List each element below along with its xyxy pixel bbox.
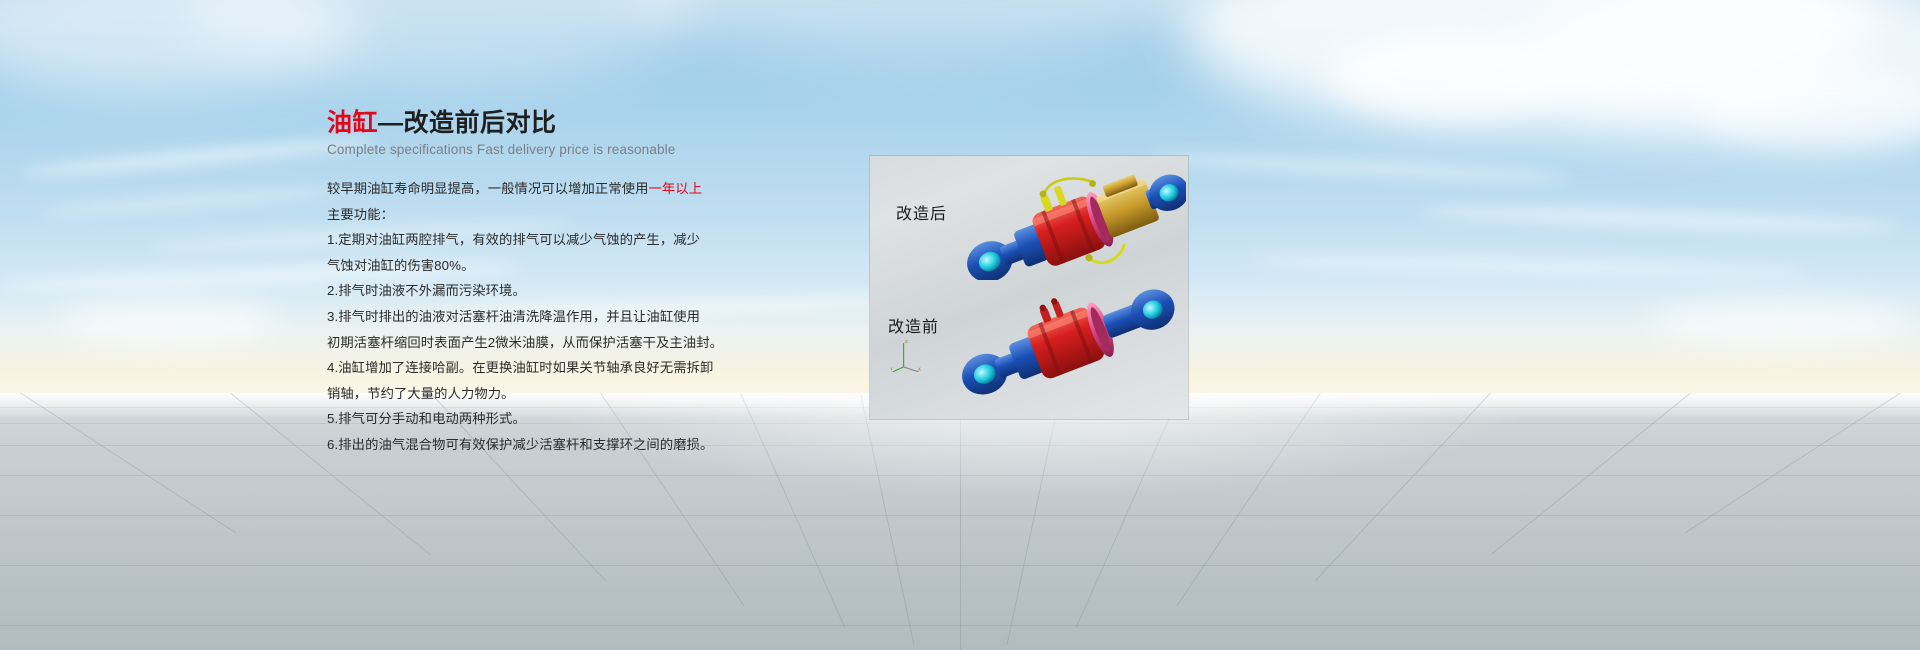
- body-text: 5.排气可分手动和电动两种形式。: [327, 411, 526, 426]
- cylinder-after-render: [956, 170, 1186, 280]
- svg-text:Y: Y: [890, 366, 893, 371]
- highlight-text: 一年以上: [649, 181, 703, 196]
- label-after: 改造后: [896, 200, 947, 224]
- label-before: 改造前: [888, 313, 939, 337]
- page-title: 油缸—改造前后对比: [327, 108, 847, 138]
- feature-line: 较早期油缸寿命明显提高，一般情况可以增加正常使用一年以上: [327, 176, 847, 202]
- comparison-image-panel: 改造后 改造前 Z X Y: [870, 156, 1188, 419]
- body-text: 销轴，节约了大量的人力物力。: [327, 386, 515, 401]
- feature-line: 气蚀对油缸的伤害80%。: [327, 253, 847, 279]
- page-subtitle: Complete specifications Fast delivery pr…: [327, 142, 847, 157]
- feature-line: 销轴，节约了大量的人力物力。: [327, 381, 847, 407]
- body-text: 3.排气时排出的油液对活塞杆油清洗降温作用，并且让油缸使用: [327, 309, 700, 324]
- title-rest: —改造前后对比: [378, 109, 557, 137]
- body-text: 较早期油缸寿命明显提高，一般情况可以增加正常使用: [327, 181, 649, 196]
- body-text: 6.排出的油气混合物可有效保护减少活塞杆和支撑环之间的磨损。: [327, 437, 713, 452]
- feature-list: 较早期油缸寿命明显提高，一般情况可以增加正常使用一年以上主要功能：1.定期对油缸…: [327, 176, 847, 458]
- svg-text:Z: Z: [905, 339, 908, 344]
- feature-line: 3.排气时排出的油液对活塞杆油清洗降温作用，并且让油缸使用: [327, 304, 847, 330]
- pavement-background: [0, 393, 1920, 650]
- body-text: 1.定期对油缸两腔排气，有效的排气可以减少气蚀的产生，减少: [327, 232, 700, 247]
- feature-line: 4.油缸增加了连接哈副。在更换油缸时如果关节轴承良好无需拆卸: [327, 355, 847, 381]
- body-text: 初期活塞杆缩回时表面产生2微米油膜，从而保护活塞干及主油封。: [327, 335, 723, 350]
- feature-line: 初期活塞杆缩回时表面产生2微米油膜，从而保护活塞干及主油封。: [327, 330, 847, 356]
- body-text: 2.排气时油液不外漏而污染环境。: [327, 283, 526, 298]
- feature-line: 2.排气时油液不外漏而污染环境。: [327, 278, 847, 304]
- feature-line: 5.排气可分手动和电动两种形式。: [327, 406, 847, 432]
- axis-triad-icon: Z X Y: [890, 338, 924, 372]
- feature-line: 主要功能：: [327, 202, 847, 228]
- copy-block: 油缸—改造前后对比 Complete specifications Fast d…: [327, 108, 847, 458]
- svg-text:X: X: [918, 366, 921, 371]
- feature-line: 6.排出的油气混合物可有效保护减少活塞杆和支撑环之间的磨损。: [327, 432, 847, 458]
- body-text: 4.油缸增加了连接哈副。在更换油缸时如果关节轴承良好无需拆卸: [327, 360, 713, 375]
- body-text: 气蚀对油缸的伤害80%。: [327, 258, 475, 273]
- title-highlight: 油缸: [327, 109, 378, 137]
- banner-stage: 油缸—改造前后对比 Complete specifications Fast d…: [0, 0, 1920, 650]
- body-text: 主要功能：: [327, 207, 394, 222]
- cylinder-before-render: [952, 280, 1184, 400]
- feature-line: 1.定期对油缸两腔排气，有效的排气可以减少气蚀的产生，减少: [327, 227, 847, 253]
